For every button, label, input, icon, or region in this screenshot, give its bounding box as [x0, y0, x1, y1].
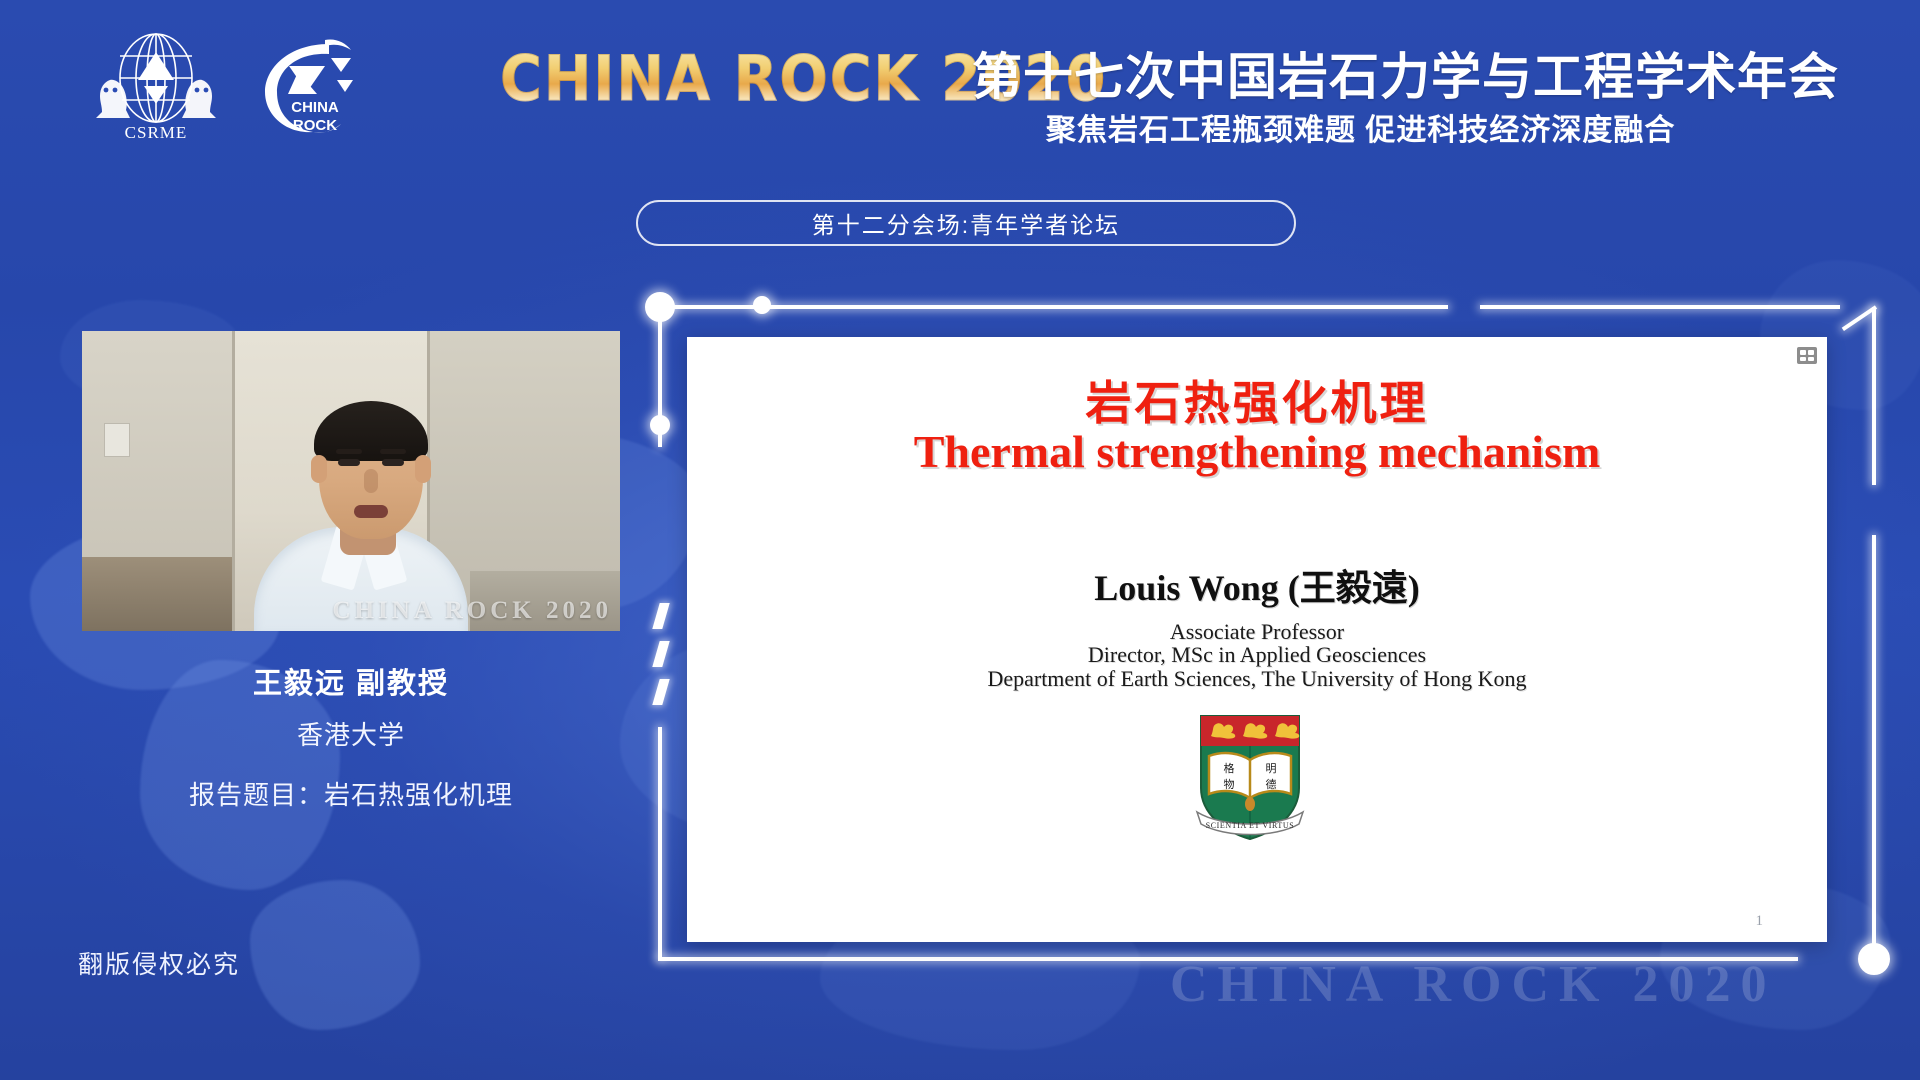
frame-dash-2: [652, 641, 669, 667]
video-furniture-left: [82, 557, 232, 631]
slide-panel-toggle-icon[interactable]: [1797, 347, 1817, 364]
frame-line-top: [658, 305, 1448, 309]
speaker-ear-left: [311, 455, 327, 483]
speaker-eye-right: [382, 459, 404, 466]
speaker-video-feed[interactable]: CHINA ROCK 2020: [82, 331, 620, 631]
copyright-notice: 翻版侵权必究: [78, 945, 240, 981]
speaker-eye-left: [338, 459, 360, 466]
frame-dot-top-mid: [753, 296, 771, 314]
csrme-logo-label: CSRME: [125, 123, 188, 142]
speaker-mouth: [354, 505, 388, 518]
speaker-name-label: 王毅远 副教授: [82, 660, 620, 702]
speaker-topic-label: 报告题目：岩石热强化机理: [82, 775, 620, 812]
frame-line-right-lower: [1872, 535, 1876, 959]
frame-line-left-lower: [658, 727, 662, 959]
slide-title-chinese: 岩石热强化机理: [687, 367, 1827, 433]
china-rock-logo-line2: ROCK: [293, 117, 337, 134]
china-rock-logo-line1: CHINA: [291, 99, 339, 116]
hku-crest-logo: 格 明 物 德 SCIENTIA ET VIRTUS: [1195, 712, 1305, 842]
frame-dot-top-left: [645, 292, 675, 322]
session-badge: 第十二分会场:青年学者论坛: [636, 200, 1296, 246]
frame-line-right-upper: [1872, 307, 1876, 485]
slide-page-number: 1: [1756, 913, 1764, 930]
frame-line-bottom: [658, 957, 1798, 961]
crest-char-wu: 物: [1224, 777, 1235, 791]
speaker-ear-right: [415, 455, 431, 483]
world-map-shape: [250, 880, 420, 1030]
slide-credit-line: Director, MSc in Applied Geosciences: [687, 642, 1827, 668]
slide-title-english: Thermal strengthening mechanism: [687, 425, 1827, 478]
slide-region[interactable]: 岩石热强化机理 Thermal strengthening mechanism …: [640, 285, 1900, 1005]
slide-presenter-name: Louis Wong (王毅遠): [687, 559, 1827, 611]
conference-header: CSRME CHINA ROCK CHINA ROCK 2020 第十七次中国岩…: [0, 0, 1920, 200]
crest-char-de: 德: [1266, 777, 1277, 791]
slide-credit-line: Department of Earth Sciences, The Univer…: [687, 666, 1827, 692]
china-rock-logo: CHINA ROCK: [255, 32, 367, 140]
frame-dot-left-mid: [650, 415, 670, 435]
speaker-organization-label: 香港大学: [82, 715, 620, 752]
frame-dot-bottom-right: [1858, 943, 1890, 975]
crest-char-ge: 格: [1224, 761, 1235, 775]
csrme-logo: CSRME: [72, 30, 240, 142]
speaker-eyebrow-right: [380, 449, 406, 454]
presentation-stage: CSRME CHINA ROCK CHINA ROCK 2020 第十七次中国岩…: [0, 0, 1920, 1080]
frame-dash-1: [652, 603, 669, 629]
crest-motto: SCIENTIA ET VIRTUS: [1206, 821, 1295, 830]
crest-char-ming: 明: [1266, 762, 1277, 775]
conference-title-cn: 第十七次中国岩石力学与工程学术年会: [972, 48, 1839, 106]
presentation-slide[interactable]: 岩石热强化机理 Thermal strengthening mechanism …: [687, 337, 1827, 942]
video-light-switch: [104, 423, 130, 457]
video-watermark: CHINA ROCK 2020: [333, 597, 612, 625]
frame-dash-3: [652, 679, 669, 705]
conference-subtitle-cn: 聚焦岩石工程瓶颈难题 促进科技经济深度融合: [1046, 112, 1675, 150]
frame-line-top-right: [1480, 305, 1840, 309]
speaker-nose: [364, 469, 378, 493]
speaker-eyebrow-left: [336, 449, 362, 454]
